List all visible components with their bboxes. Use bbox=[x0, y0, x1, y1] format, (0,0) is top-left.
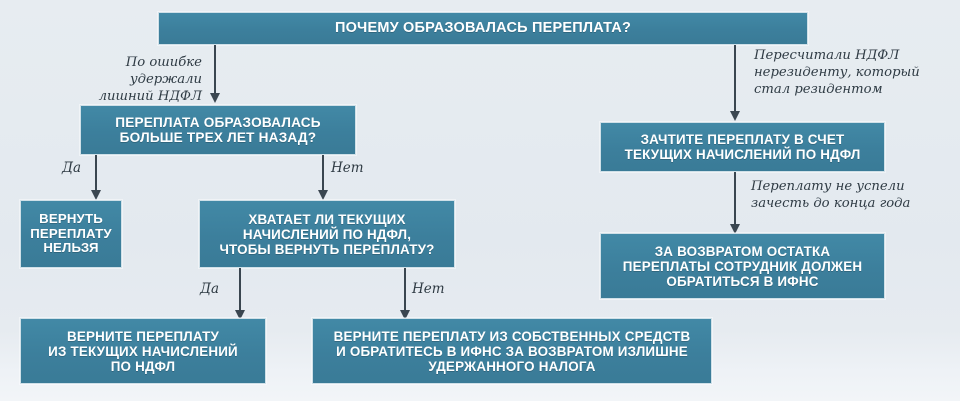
node-question-enough-accruals: ХВАТАЕТ ЛИ ТЕКУЩИХ НАЧИСЛЕНИЙ ПО НДФЛ, Ч… bbox=[199, 200, 455, 268]
branch-label-no-1: Нет bbox=[331, 160, 364, 176]
connector-three-years-yes bbox=[95, 155, 97, 192]
node-question-three-years: ПЕРЕПЛАТА ОБРАЗОВАЛАСЬ БОЛЬШЕ ТРЕХ ЛЕТ Н… bbox=[80, 105, 356, 155]
branch-label-yes-1: Да bbox=[62, 160, 81, 176]
arrowhead-three-years-yes bbox=[91, 190, 101, 200]
connector-three-years-no bbox=[322, 155, 324, 192]
flowchart-canvas: ПОЧЕМУ ОБРАЗОВАЛАСЬ ПЕРЕПЛАТА? По ошибке… bbox=[0, 0, 960, 401]
note-offset-deadline-missed: Переплату не успели зачесть до конца год… bbox=[751, 179, 951, 213]
node-employee-apply-to-ifns: ЗА ВОЗВРАТОМ ОСТАТКА ПЕРЕПЛАТЫ СОТРУДНИК… bbox=[600, 233, 885, 299]
connector-enough-accruals-no bbox=[404, 268, 406, 312]
connector-title-to-left-question bbox=[214, 45, 216, 95]
node-return-from-current-accruals: ВЕРНИТЕ ПЕРЕПЛАТУ ИЗ ТЕКУЩИХ НАЧИСЛЕНИЙ … bbox=[20, 318, 266, 384]
node-cannot-return-overpayment: ВЕРНУТЬ ПЕРЕПЛАТУ НЕЛЬЗЯ bbox=[20, 200, 122, 268]
note-left-cause: По ошибке удержали лишний НДФЛ bbox=[50, 55, 202, 106]
node-offset-against-current-accruals: ЗАЧТИТЕ ПЕРЕПЛАТУ В СЧЕТ ТЕКУЩИХ НАЧИСЛЕ… bbox=[600, 122, 885, 172]
branch-label-no-2: Нет bbox=[412, 281, 445, 297]
branch-label-yes-2: Да bbox=[200, 281, 219, 297]
node-return-from-own-funds: ВЕРНИТЕ ПЕРЕПЛАТУ ИЗ СОБСТВЕННЫХ СРЕДСТВ… bbox=[312, 318, 712, 384]
arrowhead-title-to-offset-box bbox=[730, 111, 740, 121]
node-title-why-overpayment: ПОЧЕМУ ОБРАЗОВАЛАСЬ ПЕРЕПЛАТА? bbox=[158, 12, 808, 45]
note-right-cause: Пересчитали НДФЛ нерезиденту, который ст… bbox=[754, 48, 954, 99]
connector-offset-to-ifns bbox=[734, 172, 736, 226]
connector-title-to-offset-box bbox=[734, 45, 736, 113]
arrowhead-three-years-no bbox=[318, 190, 328, 200]
connector-enough-accruals-yes bbox=[239, 268, 241, 312]
arrowhead-title-to-left-question bbox=[210, 93, 220, 103]
